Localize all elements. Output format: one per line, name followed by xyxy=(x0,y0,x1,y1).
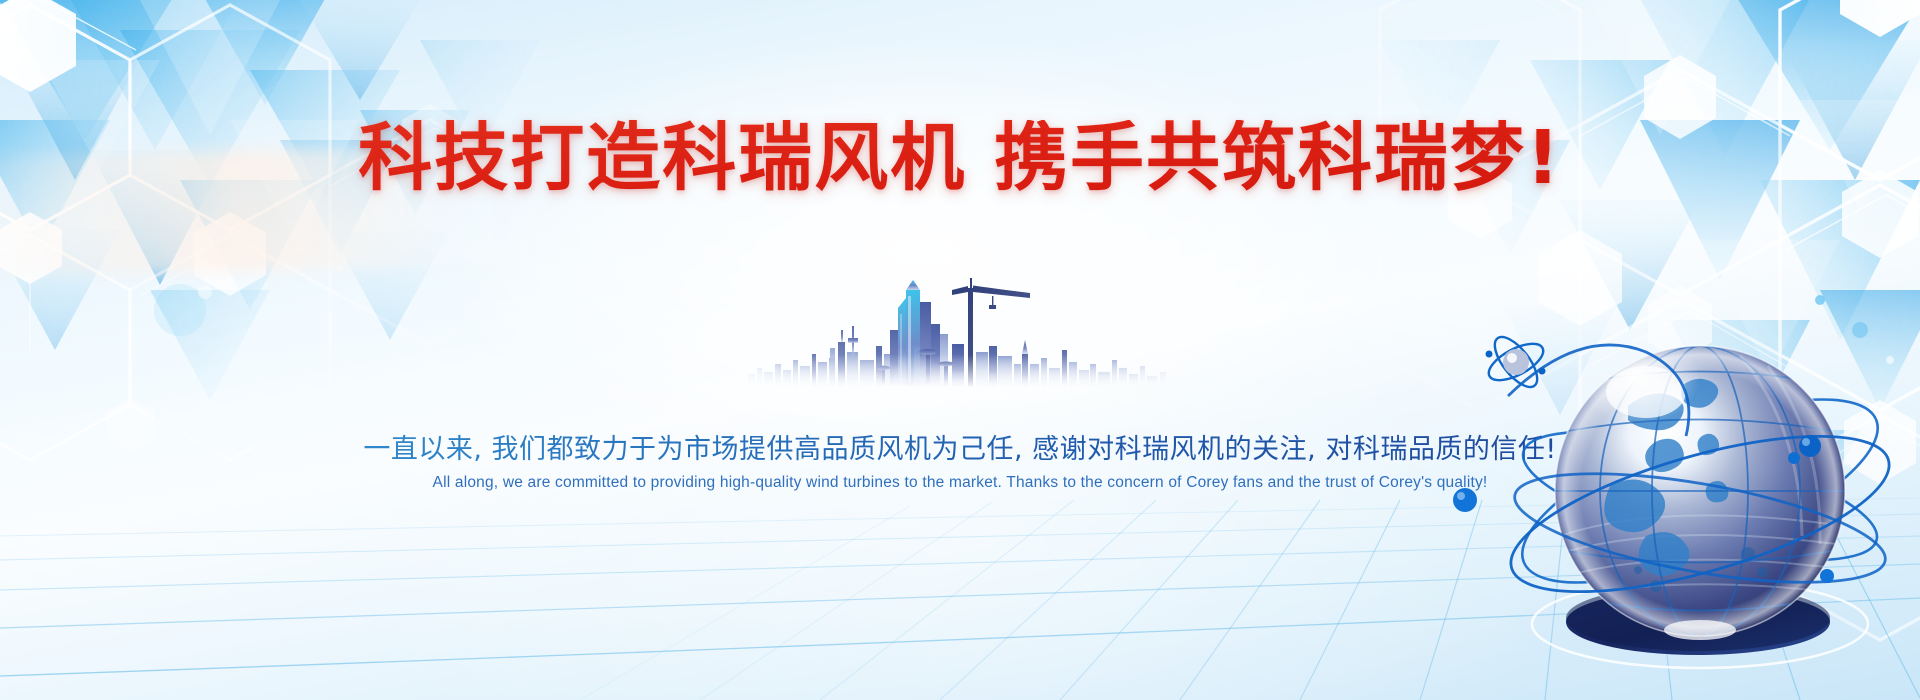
city-skyline-graphic xyxy=(730,268,1190,388)
subtitle-english: All along, we are committed to providing… xyxy=(0,474,1920,492)
page-title: 科技打造科瑞风机 携手共筑科瑞梦! xyxy=(0,120,1920,198)
subtitle-chinese: 一直以来, 我们都致力于为市场提供高品质风机为己任, 感谢对科瑞风机的关注, 对… xyxy=(0,427,1920,466)
hexagon-network-right xyxy=(1230,0,1920,700)
glass-globe-graphic xyxy=(1450,286,1920,700)
promo-banner: 科技打造科瑞风机 携手共筑科瑞梦! xyxy=(0,0,1920,700)
background-wash xyxy=(0,0,1920,700)
triangle-cluster-left xyxy=(0,0,620,420)
